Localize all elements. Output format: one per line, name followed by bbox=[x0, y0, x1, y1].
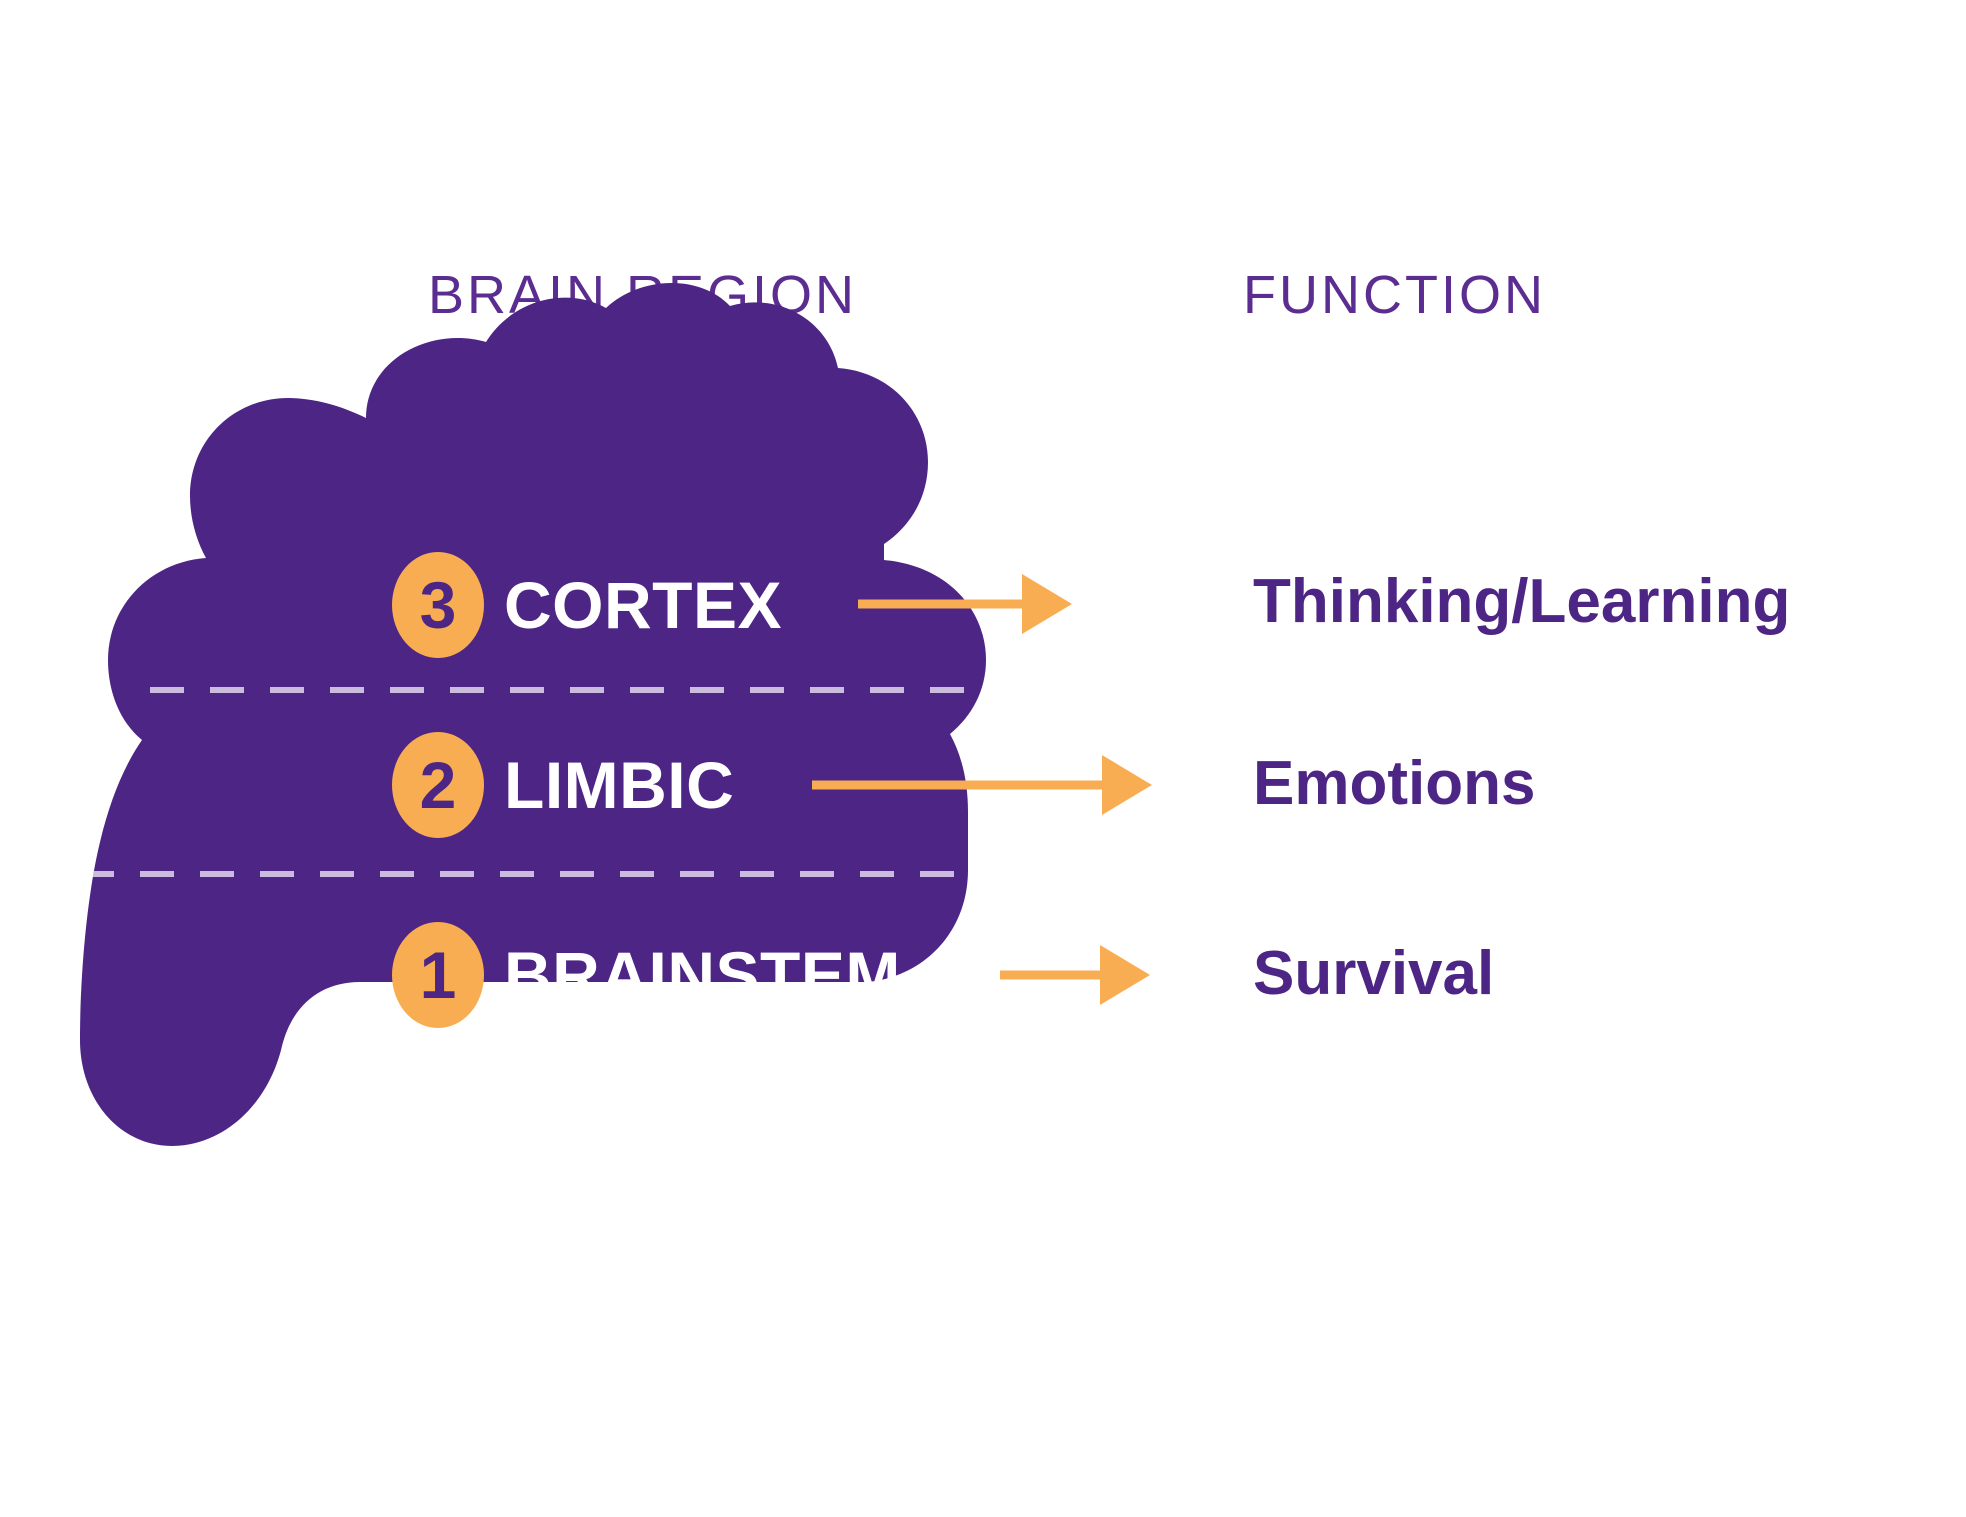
brain-region-row-cortex[interactable]: 3 CORTEX bbox=[392, 545, 782, 665]
region-number-badge-1: 1 bbox=[392, 922, 484, 1028]
function-label-cortex: Thinking/Learning bbox=[1253, 571, 1790, 633]
brain-diagram-graphic bbox=[0, 0, 1966, 1517]
column-header-brain-region: BRAIN REGION bbox=[428, 268, 857, 322]
column-header-function: FUNCTION bbox=[1243, 268, 1546, 322]
function-label-brainstem: Survival bbox=[1253, 943, 1494, 1005]
region-number-badge-3: 3 bbox=[392, 552, 484, 658]
diagram-canvas: BRAIN REGION FUNCTION bbox=[0, 0, 1966, 1517]
brain-region-row-brainstem[interactable]: 1 BRAINSTEM bbox=[392, 915, 901, 1035]
region-label-limbic: LIMBIC bbox=[504, 752, 734, 818]
region-number-badge-2: 2 bbox=[392, 732, 484, 838]
arrow-right-icon-limbic bbox=[812, 755, 1152, 815]
function-label-limbic: Emotions bbox=[1253, 753, 1535, 815]
arrow-right-icon-cortex bbox=[858, 574, 1072, 634]
region-label-cortex: CORTEX bbox=[504, 572, 782, 638]
arrow-right-icon-brainstem bbox=[1000, 945, 1150, 1005]
brain-region-row-limbic[interactable]: 2 LIMBIC bbox=[392, 725, 734, 845]
region-label-brainstem: BRAINSTEM bbox=[504, 942, 901, 1008]
